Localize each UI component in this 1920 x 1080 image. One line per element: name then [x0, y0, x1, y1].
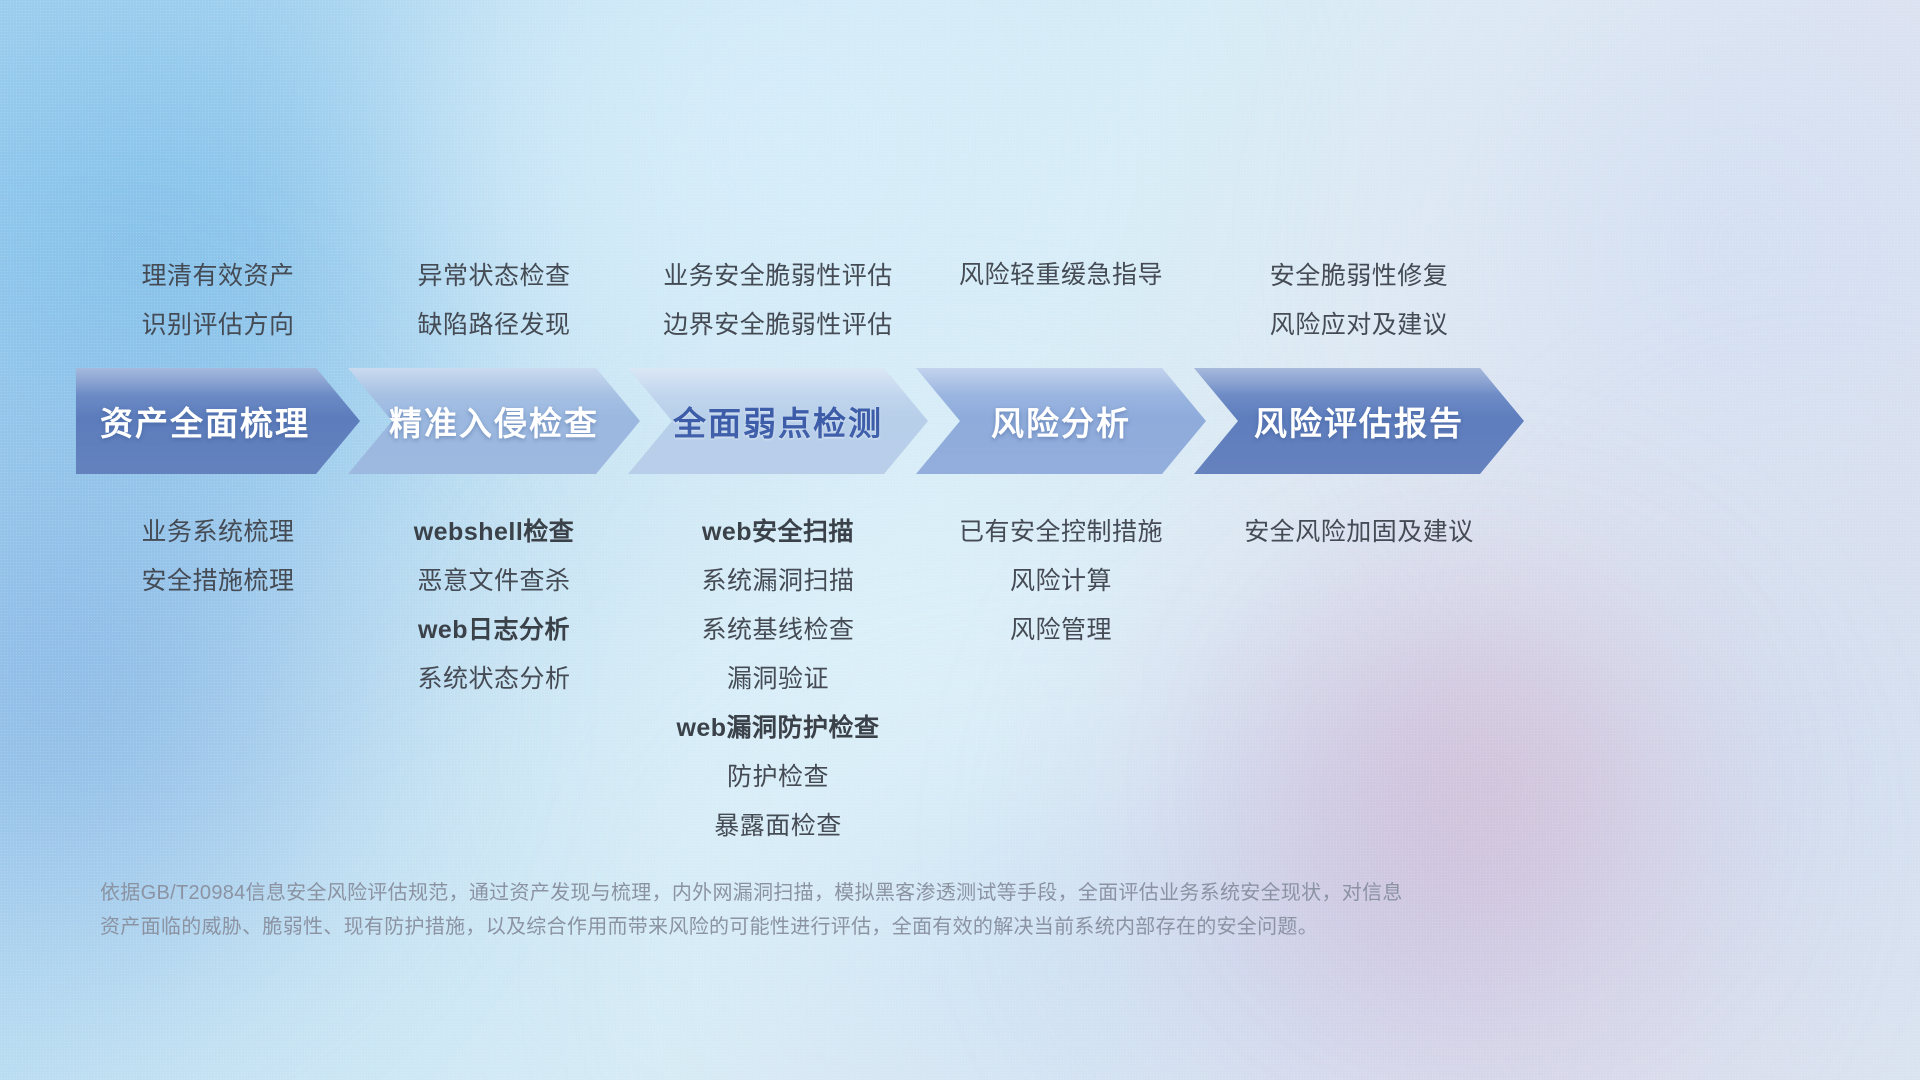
- bottom-item: 风险计算: [906, 557, 1216, 606]
- stage-bottom-items-weakness-detection: web安全扫描 系统漏洞扫描 系统基线检查 漏洞验证 web漏洞防护检查 防护检…: [618, 508, 938, 851]
- bottom-item: 防护检查: [618, 753, 938, 802]
- bottom-item: web漏洞防护检查: [618, 704, 938, 753]
- stage-top-items-weakness-detection: 业务安全脆弱性评估 边界安全脆弱性评估: [608, 252, 948, 350]
- bottom-item: 系统状态分析: [348, 655, 640, 704]
- stage-top-items-risk-report: 安全脆弱性修复 风险应对及建议: [1194, 252, 1524, 350]
- stage-title: 资产全面梳理: [76, 397, 360, 445]
- process-diagram: 理清有效资产 识别评估方向 异常状态检查 缺陷路径发现 业务安全脆弱性评估 边界…: [0, 0, 1920, 1080]
- bottom-item: 系统漏洞扫描: [618, 557, 938, 606]
- bottom-item: 暴露面检查: [618, 802, 938, 851]
- stage-title: 风险分析: [916, 397, 1206, 445]
- bottom-item: 安全措施梳理: [76, 557, 360, 606]
- stage-top-items-asset-inventory: 理清有效资产 识别评估方向: [76, 252, 360, 350]
- stage-chevron-intrusion-check[interactable]: 精准入侵检查: [348, 368, 640, 474]
- stage-top-items-intrusion-check: 异常状态检查 缺陷路径发现: [348, 252, 640, 350]
- bottom-item: 安全风险加固及建议: [1184, 508, 1534, 557]
- top-item: 风险轻重缓急指导: [906, 251, 1216, 300]
- footer-description: 依据GB/T20984信息安全风险评估规范，通过资产发现与梳理，内外网漏洞扫描，…: [100, 876, 1660, 944]
- top-item: 业务安全脆弱性评估: [608, 252, 948, 301]
- bottom-item: 漏洞验证: [618, 655, 938, 704]
- stage-bottom-items-intrusion-check: webshell检查 恶意文件查杀 web日志分析 系统状态分析: [348, 508, 640, 704]
- top-item: 异常状态检查: [348, 252, 640, 301]
- bottom-item: webshell检查: [348, 508, 640, 557]
- top-item: 识别评估方向: [76, 301, 360, 350]
- stage-chevron-weakness-detection[interactable]: 全面弱点检测: [628, 368, 928, 474]
- process-stage-band: 资产全面梳理 精准入侵检查 全面弱点检测 风险分析 风险评估报告: [0, 368, 1920, 474]
- top-item: 安全脆弱性修复: [1194, 252, 1524, 301]
- top-item: 缺陷路径发现: [348, 301, 640, 350]
- stage-bottom-items-asset-inventory: 业务系统梳理 安全措施梳理: [76, 508, 360, 606]
- footer-line-1: 依据GB/T20984信息安全风险评估规范，通过资产发现与梳理，内外网漏洞扫描，…: [100, 876, 1660, 910]
- bottom-item: web安全扫描: [618, 508, 938, 557]
- bottom-item: 恶意文件查杀: [348, 557, 640, 606]
- bottom-item: 风险管理: [906, 606, 1216, 655]
- stage-bottom-items-risk-analysis: 已有安全控制措施 风险计算 风险管理: [906, 508, 1216, 655]
- stage-bottom-items-risk-report: 安全风险加固及建议: [1184, 508, 1534, 557]
- bottom-item: web日志分析: [348, 606, 640, 655]
- stage-top-items-risk-analysis: 风险轻重缓急指导: [906, 251, 1216, 300]
- stage-title: 风险评估报告: [1194, 397, 1524, 445]
- stage-chevron-risk-analysis[interactable]: 风险分析: [916, 368, 1206, 474]
- bottom-item: 系统基线检查: [618, 606, 938, 655]
- stage-title: 全面弱点检测: [628, 397, 928, 445]
- stage-chevron-risk-report[interactable]: 风险评估报告: [1194, 368, 1524, 474]
- bottom-item: 业务系统梳理: [76, 508, 360, 557]
- bottom-item: 已有安全控制措施: [906, 508, 1216, 557]
- stage-title: 精准入侵检查: [348, 397, 640, 445]
- footer-line-2: 资产面临的威胁、脆弱性、现有防护措施，以及综合作用而带来风险的可能性进行评估，全…: [100, 910, 1660, 944]
- stage-chevron-asset-inventory[interactable]: 资产全面梳理: [76, 368, 360, 474]
- top-item: 边界安全脆弱性评估: [608, 301, 948, 350]
- top-item: 风险应对及建议: [1194, 301, 1524, 350]
- top-item: 理清有效资产: [76, 252, 360, 301]
